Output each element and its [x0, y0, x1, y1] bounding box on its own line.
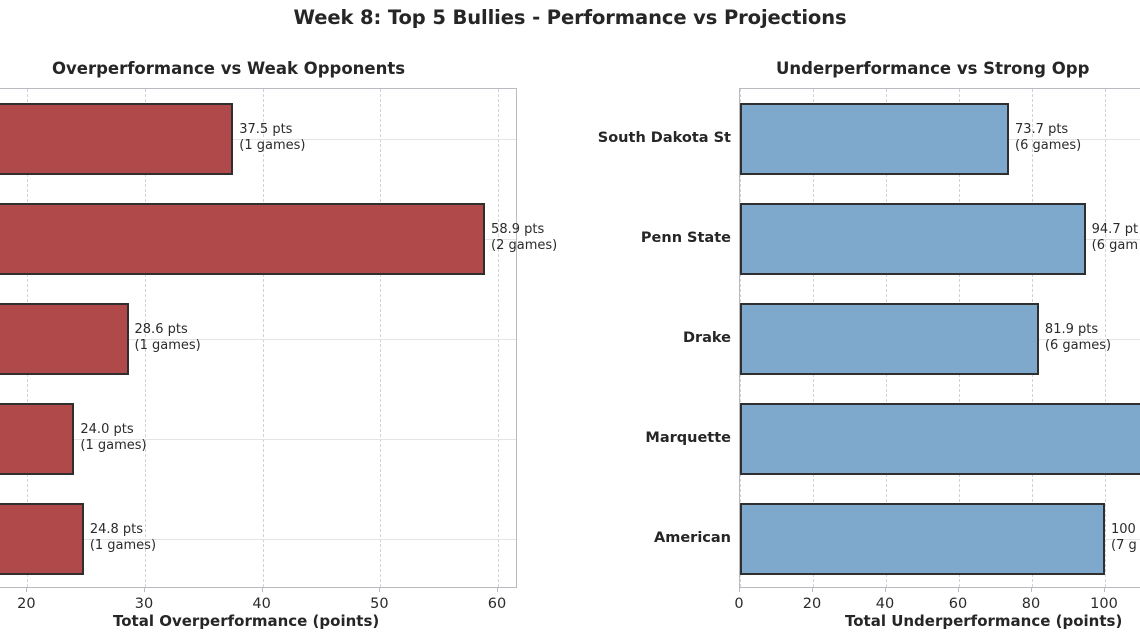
gridline-vertical [498, 89, 500, 587]
bar[interactable] [740, 303, 1039, 375]
bar-points-text: 24.0 pts [80, 422, 146, 438]
x-tick-mark [26, 588, 27, 592]
bar-points-text: 81.9 pts [1045, 322, 1111, 338]
bar-games-text: (6 games) [1015, 138, 1081, 154]
x-tick-label: 40 [876, 596, 894, 612]
y-axis-category-label: Marquette [511, 430, 731, 446]
x-tick-mark [379, 588, 380, 592]
bar-value-label: 94.7 pt(6 gam [1092, 222, 1138, 254]
bar[interactable] [0, 203, 485, 275]
bar-value-label: 24.0 pts(1 games) [80, 422, 146, 454]
bar-games-text: (7 g [1111, 538, 1137, 554]
bar[interactable] [0, 403, 74, 475]
bar-value-label: 28.6 pts(1 games) [135, 322, 201, 354]
x-tick-mark [885, 588, 886, 592]
x-tick-label: 50 [370, 596, 388, 612]
gridline-vertical [263, 89, 265, 587]
bar-games-text: (1 games) [135, 338, 201, 354]
y-axis-category-label: Penn State [511, 230, 731, 246]
subplot-right-title: Underperformance vs Strong Opp [776, 59, 1089, 78]
x-tick-label: 0 [734, 596, 743, 612]
x-axis-label-left: Total Overperformance (points) [113, 612, 379, 630]
bar-games-text: (6 games) [1045, 338, 1111, 354]
x-axis-label-right: Total Underperformance (points) [845, 612, 1122, 630]
x-tick-label: 30 [135, 596, 153, 612]
x-tick-label: 20 [803, 596, 821, 612]
subplot-left-title: Overperformance vs Weak Opponents [52, 59, 405, 78]
bar-value-label: 24.8 pts(1 games) [90, 522, 156, 554]
y-axis-category-label: American [511, 530, 731, 546]
y-axis-category-label: South Dakota St [511, 130, 731, 146]
bar-points-text: 94.7 pt [1092, 222, 1138, 238]
x-tick-mark [812, 588, 813, 592]
bar-value-label: 37.5 pts(1 games) [239, 122, 305, 154]
plot-area-right: 73.7 pts(6 games)94.7 pt(6 gam81.9 pts(6… [739, 88, 1140, 588]
x-tick-label: 100 [1090, 596, 1118, 612]
x-tick-mark [497, 588, 498, 592]
bar-points-text: 73.7 pts [1015, 122, 1081, 138]
gridline-horizontal [0, 439, 516, 440]
bar-games-text: (6 gam [1092, 238, 1138, 254]
x-tick-mark [1104, 588, 1105, 592]
bar[interactable] [740, 203, 1086, 275]
x-tick-mark [739, 588, 740, 592]
y-axis-category-label: Drake [511, 330, 731, 346]
x-tick-label: 60 [488, 596, 506, 612]
bar-value-label: 100(7 g [1111, 522, 1137, 554]
bar[interactable] [740, 503, 1105, 575]
bar-value-label: 81.9 pts(6 games) [1045, 322, 1111, 354]
bar-points-text: 37.5 pts [239, 122, 305, 138]
x-tick-label: 40 [252, 596, 270, 612]
figure-canvas: Week 8: Top 5 Bullies - Performance vs P… [0, 0, 1140, 641]
x-tick-label: 80 [1022, 596, 1040, 612]
bar[interactable] [740, 403, 1140, 475]
bar[interactable] [0, 303, 129, 375]
bar-games-text: (1 games) [239, 138, 305, 154]
x-tick-mark [1031, 588, 1032, 592]
bar[interactable] [0, 103, 233, 175]
bar[interactable] [0, 503, 84, 575]
bar-games-text: (1 games) [80, 438, 146, 454]
bar-points-text: 24.8 pts [90, 522, 156, 538]
bar[interactable] [740, 103, 1009, 175]
bar-points-text: 28.6 pts [135, 322, 201, 338]
x-tick-label: 60 [949, 596, 967, 612]
plot-area-left: 37.5 pts(1 games)58.9 pts(2 games)28.6 p… [0, 88, 517, 588]
x-tick-mark [144, 588, 145, 592]
bar-points-text: 100 [1111, 522, 1137, 538]
bar-value-label: 73.7 pts(6 games) [1015, 122, 1081, 154]
x-tick-label: 20 [17, 596, 35, 612]
gridline-vertical [380, 89, 382, 587]
figure-suptitle: Week 8: Top 5 Bullies - Performance vs P… [0, 6, 1140, 29]
bar-games-text: (1 games) [90, 538, 156, 554]
x-tick-mark [958, 588, 959, 592]
x-tick-mark [262, 588, 263, 592]
